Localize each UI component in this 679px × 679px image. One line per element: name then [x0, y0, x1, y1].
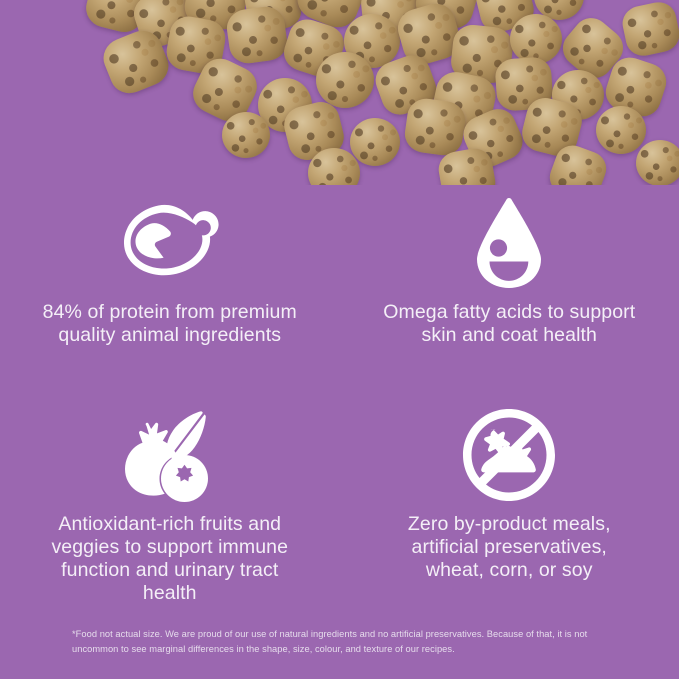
- feature-text-fruits: Antioxidant-rich fruits and veggies to s…: [42, 513, 297, 605]
- feature-item-protein: 84% of protein from premium quality anim…: [0, 185, 340, 393]
- feature-text-omega: Omega fatty acids to support skin and co…: [382, 301, 637, 347]
- feature-item-no-byproducts: Zero by-product meals, artificial preser…: [340, 393, 679, 605]
- feature-text-no-byproducts: Zero by-product meals, artificial preser…: [382, 513, 637, 582]
- feature-grid: 84% of protein from premium quality anim…: [0, 185, 679, 605]
- meat-cut-icon: [118, 185, 222, 291]
- feature-text-protein: 84% of protein from premium quality anim…: [42, 301, 297, 347]
- fruits-berries-icon: [121, 393, 219, 503]
- footnote-disclaimer: *Food not actual size. We are proud of o…: [72, 627, 612, 656]
- no-poultry-icon: [461, 393, 557, 503]
- kibble-photo: [0, 0, 679, 185]
- water-droplet-icon: [467, 185, 551, 291]
- product-feature-panel: 84% of protein from premium quality anim…: [0, 0, 679, 679]
- feature-item-fruits: Antioxidant-rich fruits and veggies to s…: [0, 393, 340, 605]
- feature-item-omega: Omega fatty acids to support skin and co…: [340, 185, 679, 393]
